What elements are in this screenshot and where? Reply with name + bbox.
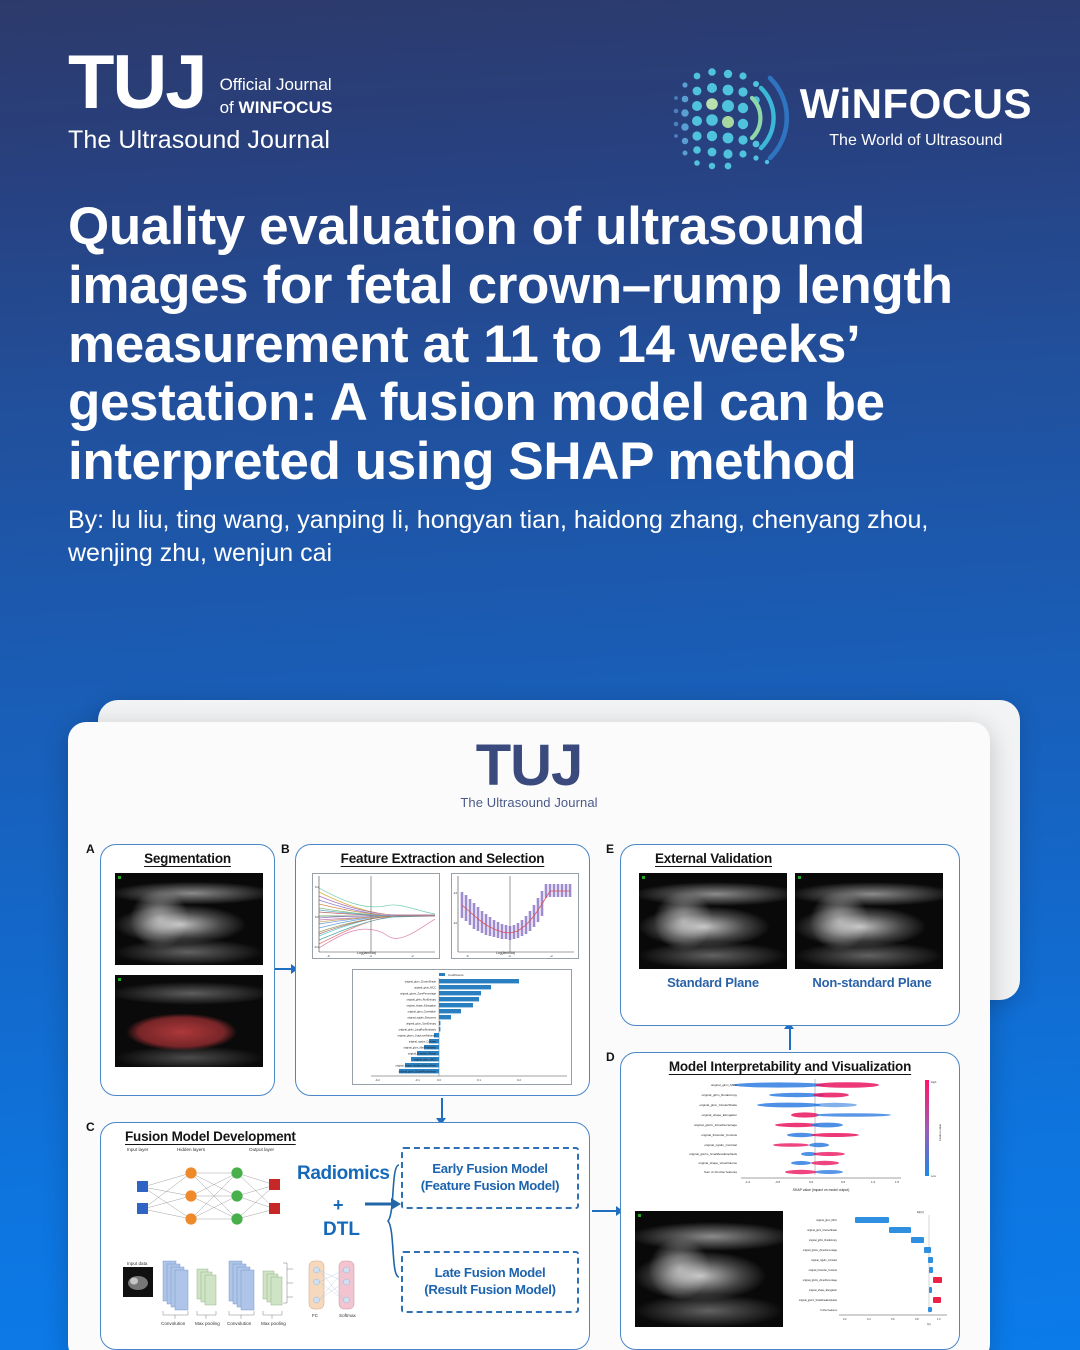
svg-text:original_glszm_ZonePercentage: original_glszm_ZonePercentage (803, 1279, 838, 1282)
watermark-subtitle: The Ultrasound Journal (68, 795, 990, 810)
winfocus-text: WiNFOCUS The World of Ultrasound (800, 83, 1032, 154)
brace-icon (387, 1163, 401, 1279)
svg-text:original_glcm_ClusterShade: original_glcm_ClusterShade (699, 1103, 737, 1107)
nn-input-layer-label: Input layer (127, 1147, 148, 1152)
figure-watermark: TUJ The Ultrasound Journal (68, 738, 990, 810)
svg-text:9 other features: 9 other features (820, 1309, 838, 1312)
winfocus-sonar-dots-icon (664, 54, 792, 182)
article-header: Quality evaluation of ultrasound images … (68, 198, 1008, 571)
svg-text:original_glrlm_RunEntropy: original_glrlm_RunEntropy (809, 1239, 838, 1242)
svg-text:original_glszm_GrayLevelVarian: original_glszm_GrayLevelVariance (398, 1035, 437, 1038)
svg-text:Feature value: Feature value (938, 1123, 942, 1141)
panel-b-feature-extraction: B Feature Extraction and Selection (295, 844, 590, 1096)
tuj-official-journal-text: Official Journal of WINFOCUS (220, 48, 333, 120)
neural-network-diagram: Input layer Hidden layers Output layer (119, 1157, 289, 1235)
svg-text:original_glszm_SmallAreaEmphas: original_glszm_SmallAreaEmphasis (799, 1299, 838, 1302)
chart-shap-beeswarm: -1.0-0.50.0 0.51.01.5 High Lo (629, 1075, 953, 1199)
chart-lasso-paths: 0.2 0.0 -0.2 -6-4-2 Log(lambda) (312, 873, 440, 959)
poster-header: TUJ Official Journal of WINFOCUS The Ult… (0, 48, 1080, 188)
cnn-pool1-label: Max pooling (195, 1321, 220, 1326)
panel-e-label: E (606, 842, 614, 856)
tuj-logo-row: TUJ Official Journal of WINFOCUS (68, 48, 333, 120)
probe-marker-icon (118, 978, 121, 981)
svg-text:E[f(x)]: E[f(x)] (917, 1210, 924, 1214)
cnn-input-data-label: Input data (127, 1261, 147, 1266)
cnn-diagram: Input data Convolution Max pooling Convo… (117, 1249, 367, 1331)
chart-cv-mse: .24 .16 -6-4-2 Log(lambda) (451, 873, 579, 959)
svg-text:original_firstorder_Range: original_firstorder_Range (408, 1053, 437, 1056)
nonstandard-plane-image (795, 873, 943, 969)
panel-a-title: Segmentation (101, 845, 274, 866)
svg-text:-0.1: -0.1 (415, 1078, 420, 1082)
panel-a-segmentation: A Segmentation (100, 844, 275, 1096)
svg-text:original_firstorder_Kurtosis: original_firstorder_Kurtosis (809, 1269, 838, 1272)
early-fusion-model-box: Early Fusion Model (Feature Fusion Model… (401, 1147, 579, 1209)
svg-text:-1.0: -1.0 (745, 1180, 751, 1184)
official-of-word: of (220, 98, 239, 117)
early-fusion-line2: (Feature Fusion Model) (421, 1178, 559, 1195)
svg-text:0.0: 0.0 (437, 1078, 441, 1082)
winfocus-w: W (800, 80, 840, 127)
cnn-pool2-label: Max pooling (261, 1321, 286, 1326)
svg-text:original_shape_Elongation: original_shape_Elongation (809, 1289, 838, 1292)
svg-text:original_ngtdm_Contrast: original_ngtdm_Contrast (704, 1143, 737, 1147)
svg-text:-0.5: -0.5 (775, 1180, 781, 1184)
svg-text:original_ngtdm_Busyness: original_ngtdm_Busyness (407, 1017, 436, 1020)
svg-text:SHAP value (impact on model ou: SHAP value (impact on model output) (793, 1188, 850, 1192)
panel-d-model-interpretability: D Model Interpretability and Visualizati… (620, 1052, 960, 1350)
ultrasound-segmented-image (115, 975, 263, 1067)
arrow-c-to-d (592, 1210, 618, 1212)
svg-text:.24: .24 (453, 891, 458, 895)
panel-e-title: External Validation (621, 845, 959, 866)
radiomics-label: Radiomics (297, 1163, 390, 1185)
feature-coefficients-svg: Coefficients (353, 970, 573, 1086)
official-winfocus-word: WINFOCUS (238, 98, 332, 117)
probe-marker-icon (638, 1214, 641, 1217)
svg-text:Low: Low (931, 1174, 936, 1178)
svg-text:original_glszm_ZonePercentage: original_glszm_ZonePercentage (694, 1123, 737, 1127)
svg-text:f(x): f(x) (927, 1322, 931, 1326)
early-fusion-line1: Early Fusion Model (432, 1161, 548, 1178)
article-authors: By: lu liu, ting wang, yanping li, hongy… (68, 504, 1008, 571)
probe-marker-icon (798, 876, 801, 879)
svg-text:original_firstorder_Kurtosis: original_firstorder_Kurtosis (701, 1133, 737, 1137)
svg-text:Sum of 10 other features: Sum of 10 other features (704, 1170, 738, 1174)
svg-text:-2: -2 (550, 954, 553, 958)
svg-text:0.1: 0.1 (477, 1078, 481, 1082)
cnn-conv2-label: Convolution (227, 1321, 251, 1326)
winfocus-logo: WiNFOCUS The World of Ultrasound (664, 54, 1032, 182)
svg-text:1.5: 1.5 (895, 1180, 900, 1184)
panel-e-external-validation: E External Validation Standard Plane Non… (620, 844, 960, 1026)
article-title: Quality evaluation of ultrasound images … (68, 198, 1008, 492)
svg-text:original_glcm_IMC1: original_glcm_IMC1 (414, 1059, 437, 1062)
panel-c-title: Fusion Model Development (101, 1123, 589, 1144)
svg-text:original_glszm_SmallAreaEmphas: original_glszm_SmallAreaEmphasis (689, 1152, 737, 1156)
svg-text:0.6: 0.6 (891, 1317, 895, 1321)
cnn-svg (117, 1249, 367, 1331)
panel-b-lasso-xlabel: Log(lambda) (357, 951, 376, 955)
svg-text:original_shape_VoxelVolume: original_shape_VoxelVolume (698, 1161, 737, 1165)
late-fusion-line2: (Result Fusion Model) (424, 1282, 555, 1299)
svg-text:original_glrlm_LongRunEmphasis: original_glrlm_LongRunEmphasis (399, 1029, 437, 1032)
graphical-abstract: A Segmentation B Feature Extraction and … (90, 830, 968, 1328)
official-org-line: of WINFOCUS (220, 97, 333, 120)
svg-text:original_glcm_MCC: original_glcm_MCC (414, 987, 436, 990)
svg-text:original_glszm_ZonePercentage: original_glszm_ZonePercentage (803, 1249, 838, 1252)
svg-text:0.0: 0.0 (315, 915, 320, 919)
chart-feature-coefficients: Coefficients (352, 969, 572, 1085)
svg-text:original_ngtdm_Contrast: original_ngtdm_Contrast (811, 1259, 837, 1262)
svg-text:0.5: 0.5 (841, 1180, 846, 1184)
svg-text:Coefficients: Coefficients (448, 973, 464, 977)
lasso-paths-svg: 0.2 0.0 -0.2 -6-4-2 (313, 874, 441, 960)
plus-label: + (333, 1195, 344, 1216)
svg-text:original_glcm_MCC: original_glcm_MCC (816, 1219, 837, 1222)
cnn-fc-label: FC (312, 1313, 318, 1318)
nonstandard-plane-caption: Non-standard Plane (787, 975, 957, 990)
svg-text:original_glrlm_RunEntropy: original_glrlm_RunEntropy (407, 999, 437, 1002)
winfocus-i: i (839, 80, 851, 127)
svg-text:-2: -2 (411, 954, 414, 958)
svg-text:0.8: 0.8 (915, 1317, 919, 1321)
svg-text:original_glcm_Correlation: original_glcm_Correlation (408, 1011, 437, 1014)
svg-text:original_glcm_SumEntropy: original_glcm_SumEntropy (406, 1023, 437, 1026)
svg-text:original_shape_SurfaceVolumeRa: original_shape_SurfaceVolumeRatio (396, 1065, 437, 1068)
svg-text:1.0: 1.0 (871, 1180, 876, 1184)
svg-text:original_glszm_ZonePercentage: original_glszm_ZonePercentage (400, 993, 436, 996)
svg-text:original_glcm_ClusterShade: original_glcm_ClusterShade (807, 1229, 838, 1232)
svg-text:0.2: 0.2 (315, 885, 320, 889)
tuj-wordmark: TUJ (68, 48, 206, 118)
svg-text:0.4: 0.4 (867, 1317, 871, 1321)
svg-text:-6: -6 (327, 954, 330, 958)
panel-b-label: B (281, 842, 290, 856)
late-fusion-line1: Late Fusion Model (435, 1265, 546, 1282)
panel-c-fusion-model: C Fusion Model Development (100, 1122, 590, 1350)
svg-text:original_glrlm_RunEntropy: original_glrlm_RunEntropy (702, 1093, 738, 1097)
svg-text:High: High (931, 1080, 937, 1084)
winfocus-rest: NFOCUS (852, 80, 1032, 127)
cv-mse-svg: .24 .16 -6-4-2 (452, 874, 580, 960)
ultrasound-original-image (115, 873, 263, 965)
cnn-softmax-label: Softmax (339, 1313, 356, 1318)
standard-plane-caption: Standard Plane (629, 975, 797, 990)
dtl-label: DTL (323, 1219, 360, 1241)
svg-text:0.2: 0.2 (517, 1078, 521, 1082)
shap-beeswarm-svg: -1.0-0.50.0 0.51.01.5 High Lo (629, 1075, 953, 1199)
arrow-d-to-e (789, 1028, 791, 1050)
svg-text:original_shape_Elongation: original_shape_Elongation (702, 1113, 738, 1117)
cnn-conv1-label: Convolution (161, 1321, 185, 1326)
standard-plane-image (639, 873, 787, 969)
svg-text:original_glcm_MaxProbability: original_glcm_MaxProbability (403, 1047, 436, 1050)
tuj-logo: TUJ Official Journal of WINFOCUS The Ult… (68, 48, 333, 155)
late-fusion-model-box: Late Fusion Model (Result Fusion Model) (401, 1251, 579, 1313)
shap-waterfall-svg: 0.20.40.6 0.81.0 f(x) E[f(x)] original_g… (795, 1205, 953, 1329)
validation-ultrasound-image (635, 1211, 783, 1327)
chart-shap-waterfall: 0.20.40.6 0.81.0 f(x) E[f(x)] original_g… (795, 1205, 953, 1329)
nn-hidden-layer-label: Hidden layers (177, 1147, 205, 1152)
panel-b-title: Feature Extraction and Selection (296, 845, 589, 866)
svg-text:-0.2: -0.2 (375, 1078, 380, 1082)
watermark-wordmark: TUJ (68, 738, 990, 793)
panel-d-label: D (606, 1050, 615, 1064)
mlp-svg (119, 1157, 289, 1235)
svg-text:-6: -6 (466, 954, 469, 958)
probe-marker-icon (118, 876, 121, 879)
panel-a-label: A (86, 842, 95, 856)
svg-text:0.0: 0.0 (809, 1180, 814, 1184)
tuj-subtitle: The Ultrasound Journal (68, 126, 333, 155)
figure-card: TUJ The Ultrasound Journal A Segmentatio… (68, 722, 990, 1350)
official-journal-line: Official Journal (220, 74, 333, 97)
panel-b-cv-xlabel: Log(lambda) (496, 951, 515, 955)
arrow-b-to-c (441, 1098, 443, 1120)
panel-c-label: C (86, 1120, 95, 1134)
svg-text:original_glcm_ClusterShade: original_glcm_ClusterShade (405, 981, 437, 984)
svg-text:original_glcm_MCC: original_glcm_MCC (711, 1083, 738, 1087)
winfocus-wordmark: WiNFOCUS (800, 83, 1032, 125)
svg-text:-0.2: -0.2 (314, 945, 320, 949)
winfocus-tagline: The World of Ultrasound (800, 132, 1032, 150)
svg-text:1.0: 1.0 (937, 1317, 941, 1321)
panel-d-title: Model Interpretability and Visualization (621, 1053, 959, 1074)
svg-text:original_shape_Elongation: original_shape_Elongation (407, 1005, 437, 1008)
svg-text:0.2: 0.2 (843, 1317, 847, 1321)
nn-output-layer-label: Output layer (249, 1147, 274, 1152)
svg-text:.16: .16 (453, 921, 458, 925)
svg-text:original_glcm_ClusterProminenc: original_glcm_ClusterProminence (399, 1071, 437, 1074)
probe-marker-icon (642, 876, 645, 879)
svg-text:original_ngtdm_Contrast: original_ngtdm_Contrast (409, 1041, 437, 1044)
poster-root: TUJ Official Journal of WINFOCUS The Ult… (0, 0, 1080, 1350)
